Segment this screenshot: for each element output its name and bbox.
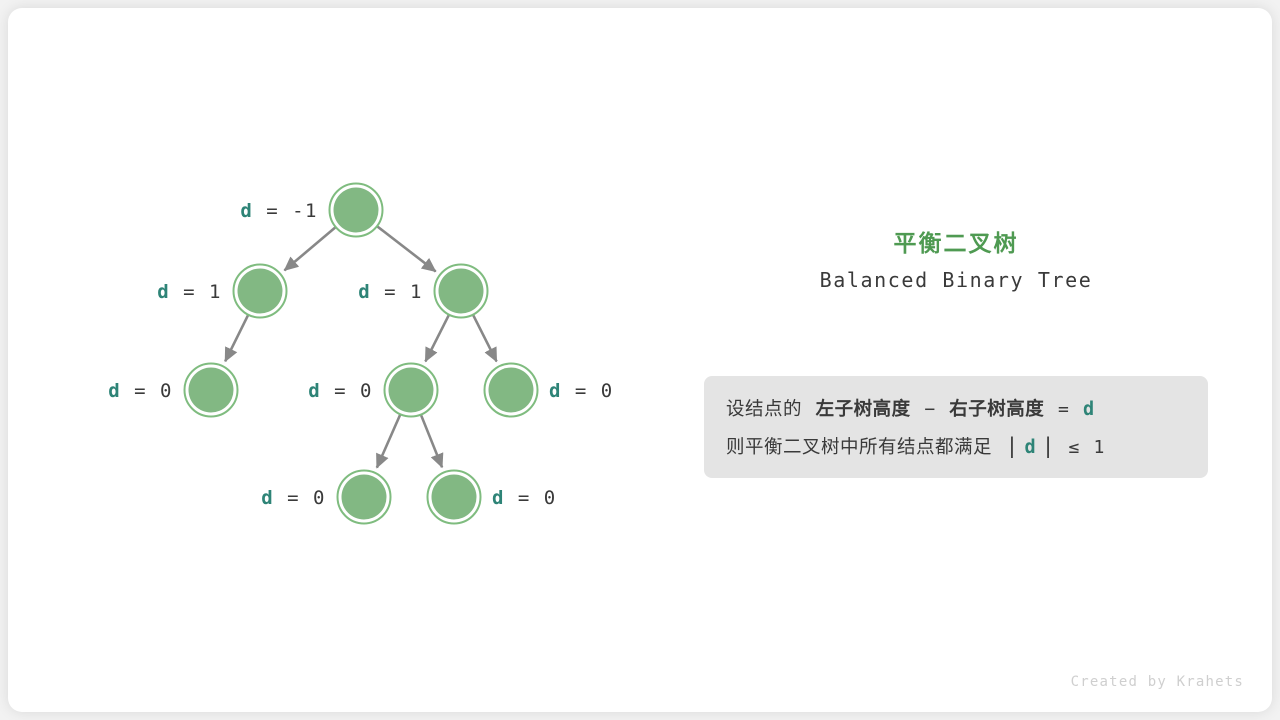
tree-edges [225, 226, 496, 467]
tree-edge [421, 415, 442, 467]
definition-box: 设结点的 左子树高度 − 右子树高度 = d 则平衡二叉树中所有结点都满足 | … [704, 376, 1208, 478]
minus-operator: − [924, 399, 935, 420]
node-balance-label: d = 0 [492, 487, 557, 509]
tree-node[interactable] [238, 269, 283, 314]
condition-prefix: 则平衡二叉树中所有结点都满足 [726, 436, 992, 457]
tree-node[interactable] [334, 188, 379, 233]
tree-edge [284, 227, 335, 270]
node-balance-label: d = 0 [308, 380, 373, 402]
definition-line-1: 设结点的 左子树高度 − 右子树高度 = d [726, 390, 1186, 428]
tree-node[interactable] [432, 475, 477, 520]
watermark-credit: Created by Krahets [1071, 674, 1244, 690]
node-balance-label: d = 0 [108, 380, 173, 402]
panel-title-cn: 平衡二叉树 [696, 228, 1216, 258]
tree-edge [377, 415, 400, 468]
node-balance-label: d = 1 [358, 281, 423, 303]
definition-prefix: 设结点的 [726, 398, 802, 419]
less-equal-operator: ≤ [1069, 437, 1080, 458]
panel-title-en: Balanced Binary Tree [696, 264, 1216, 296]
definition-line-2: 则平衡二叉树中所有结点都满足 | d | ≤ 1 [726, 428, 1186, 466]
variable-d-abs: d [1024, 437, 1036, 458]
info-panel: 平衡二叉树 Balanced Binary Tree [696, 228, 1216, 296]
tree-node-labels: d = -1d = 1d = 1d = 0d = 0d = 0d = 0d = … [108, 200, 613, 509]
tree-node[interactable] [489, 368, 534, 413]
tree-edge [473, 315, 496, 361]
tree-edge [425, 315, 448, 361]
tree-node[interactable] [389, 368, 434, 413]
node-balance-label: d = 1 [157, 281, 222, 303]
node-balance-label: d = 0 [549, 380, 614, 402]
node-balance-label: d = -1 [240, 200, 318, 222]
tree-nodes [185, 184, 538, 524]
tree-edge [225, 315, 248, 361]
figure-card: d = -1d = 1d = 1d = 0d = 0d = 0d = 0d = … [8, 8, 1272, 712]
tree-node[interactable] [439, 269, 484, 314]
abs-bar-open: | [1006, 434, 1019, 458]
binary-tree-diagram: d = -1d = 1d = 1d = 0d = 0d = 0d = 0d = … [8, 8, 1272, 712]
tree-edge [377, 226, 435, 271]
bound-value: 1 [1094, 437, 1105, 458]
variable-d: d [1083, 399, 1095, 420]
tree-node[interactable] [342, 475, 387, 520]
abs-bar-close: | [1042, 434, 1055, 458]
equals-operator: = [1058, 399, 1069, 420]
term-right-subtree-height: 右子树高度 [949, 398, 1044, 419]
tree-node[interactable] [189, 368, 234, 413]
node-balance-label: d = 0 [261, 487, 326, 509]
term-left-subtree-height: 左子树高度 [816, 398, 911, 419]
